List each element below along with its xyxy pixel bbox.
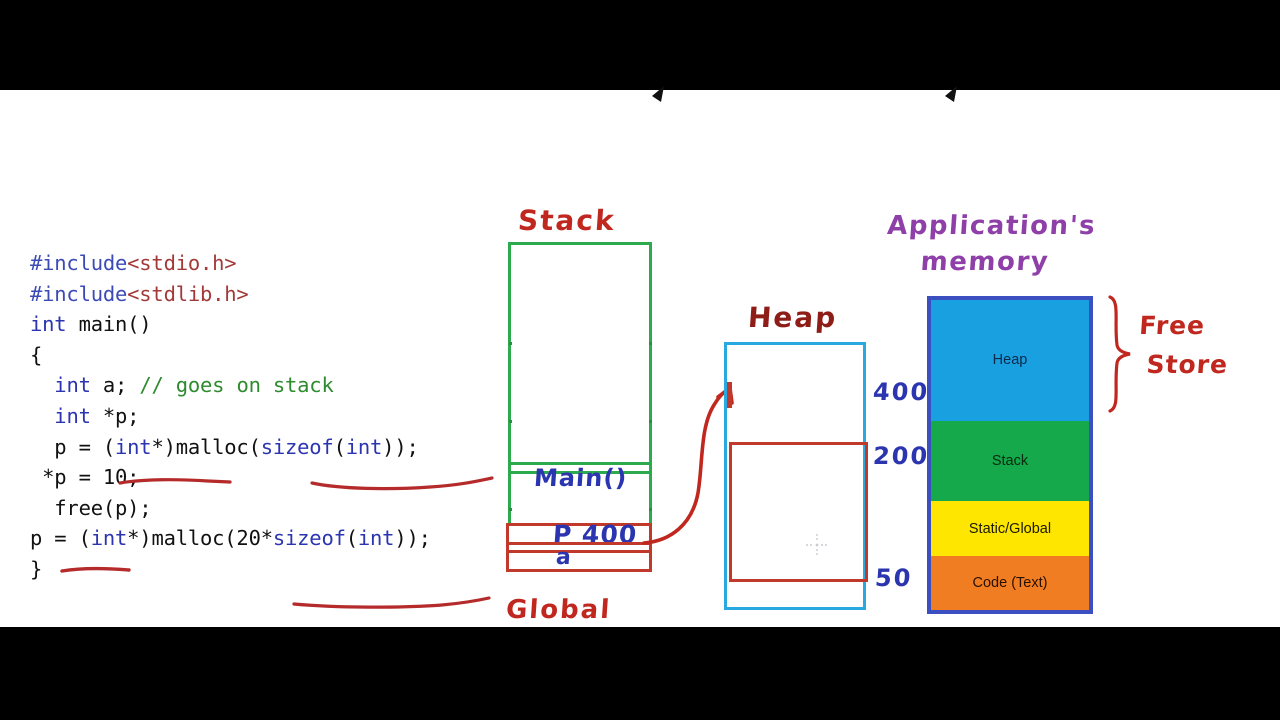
underline-int-star-cast: [118, 476, 233, 490]
free-store-label-line1: Free: [1138, 306, 1232, 345]
heap-allocated-block: [729, 442, 868, 582]
heap-allocation-tick: [727, 382, 732, 408]
code-line: int a; // goes on stack: [30, 370, 530, 401]
whiteboard-screenshot: #include<stdio.h>#include<stdlib.h>int m…: [0, 0, 1280, 720]
code-line: free(p);: [30, 493, 530, 524]
memory-segment-code-text: Code (Text): [931, 556, 1089, 610]
code-line: p = (int*)malloc(20*sizeof(int));: [30, 523, 530, 554]
stack-handle-right-mid: [649, 342, 652, 345]
stack-handle-left-bot: [509, 508, 512, 511]
app-memory-title: Application's memory: [883, 208, 1097, 280]
free-store-label: Free Store: [1135, 306, 1232, 384]
stack-outer-frame: [508, 242, 652, 474]
code-line: #include<stdlib.h>: [30, 279, 530, 310]
stack-title: Stack: [517, 204, 617, 237]
code-block: #include<stdio.h>#include<stdlib.h>int m…: [30, 248, 530, 585]
code-line: int main(): [30, 309, 530, 340]
whiteboard-canvas: #include<stdio.h>#include<stdlib.h>int m…: [0, 90, 1280, 627]
stack-handle-left-mid: [509, 342, 512, 345]
underline-20-sizeof-int: [292, 595, 492, 611]
stack-main-label: Main(): [533, 464, 628, 492]
heap-title: Heap: [747, 301, 839, 334]
app-memory-column: Heap Stack Static/Global Code (Text): [927, 296, 1093, 614]
underline-free-p: [60, 565, 132, 577]
crosshair-cursor-icon: [806, 534, 828, 556]
memory-segment-stack: Stack: [931, 421, 1089, 502]
memory-segment-heap: Heap: [931, 300, 1089, 421]
heap-address-50: 50: [874, 564, 913, 592]
code-line: {: [30, 340, 530, 371]
heap-address-200: 200: [872, 442, 930, 470]
pen-marker-icon-right: [941, 86, 963, 113]
code-line: p = (int*)malloc(sizeof(int));: [30, 432, 530, 463]
stack-handle-left-low: [509, 420, 512, 423]
code-line: int *p;: [30, 401, 530, 432]
heap-address-400: 400: [872, 378, 930, 406]
memory-segment-static-global: Static/Global: [931, 501, 1089, 555]
pen-marker-icon-left: [648, 86, 670, 113]
code-line: #include<stdio.h>: [30, 248, 530, 279]
app-memory-title-line1: Application's: [886, 208, 1097, 244]
underline-sizeof-int: [310, 475, 495, 493]
app-memory-title-line2: memory: [883, 244, 1094, 280]
free-store-label-line2: Store: [1135, 345, 1229, 384]
letterbox-top: [0, 0, 1280, 90]
letterbox-bottom: [0, 627, 1280, 720]
stack-variable-slot: [506, 542, 652, 572]
free-store-brace-icon: [1104, 295, 1140, 418]
global-title: Global: [505, 595, 612, 625]
stack-variable-label: a: [555, 545, 573, 570]
